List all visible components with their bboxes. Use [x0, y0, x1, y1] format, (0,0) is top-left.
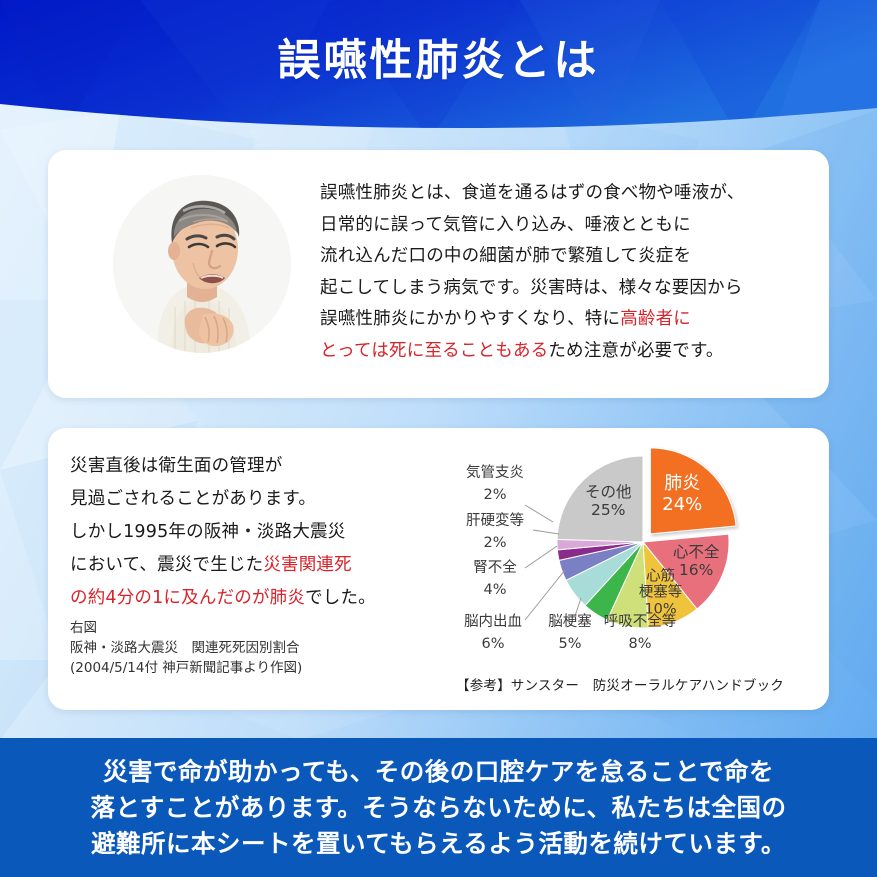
pie-value-肺炎: 24%	[662, 494, 702, 515]
pie-chart: 肺炎24%心不全16%その他25%心筋梗塞等10%気管支炎2%肝硬変等2%腎不全…	[453, 430, 823, 680]
earthquake-line-2: 見過ごされることがあります。	[70, 483, 470, 516]
pie-value-腎不全: 4%	[483, 582, 506, 598]
pie-leader-肝硬変等	[533, 530, 559, 534]
earthquake-text: 災害直後は衛生面の管理が 見過ごされることがあります。 しかし1995年の阪神・…	[70, 450, 470, 615]
header-banner: 誤嚥性肺炎とは	[0, 0, 877, 140]
footer-line-1: 災害で命が助かっても、その後の口腔ケアを怠ることで命を	[0, 754, 877, 790]
infographic-page: 誤嚥性肺炎とは	[0, 0, 877, 877]
footer-message: 災害で命が助かっても、その後の口腔ケアを怠ることで命を 落とすことがあります。そ…	[0, 754, 877, 862]
description-line-4: 起こしてしまう病気です。災害時は、様々な要因から	[320, 273, 820, 305]
pie-label-心筋梗塞等-line2: 梗塞等	[639, 583, 683, 601]
description-card: 誤嚥性肺炎とは、食道を通るはずの食べ物や唾液が、 日常的に誤って気管に入り込み、…	[48, 150, 829, 398]
pie-label-腎不全: 腎不全	[473, 558, 517, 576]
description-line-2: 日常的に誤って気管に入り込み、唾液とともに	[320, 210, 820, 242]
pie-leader-脳内出血	[525, 570, 565, 620]
earthquake-line-5: の約4分の1に及んだのが肺炎でした。	[70, 582, 470, 615]
statistics-card: 災害直後は衛生面の管理が 見過ごされることがあります。 しかし1995年の阪神・…	[48, 428, 829, 710]
pie-label-心筋梗塞等-line1: 心筋	[646, 568, 675, 585]
earthquake-line-4-highlight: 災害関連死	[263, 555, 352, 575]
description-line-5-highlight: 高齢者に	[620, 309, 691, 329]
page-title: 誤嚥性肺炎とは	[0, 26, 877, 88]
chart-caption-line-1: 右図	[70, 618, 490, 638]
pie-label-肺炎: 肺炎	[664, 473, 700, 494]
pie-value-脳梗塞: 5%	[558, 636, 581, 652]
pie-value-脳内出血: 6%	[481, 636, 504, 652]
footer-line-3: 避難所に本シートを置いてもらえるよう活動を続けています。	[0, 826, 877, 862]
pie-value-気管支炎: 2%	[483, 487, 506, 503]
chart-caption-line-3: (2004/5/14付 神戸新聞記事より作図)	[70, 658, 490, 678]
earthquake-line-3: しかし1995年の阪神・淡路大震災	[70, 516, 470, 549]
pie-value-心不全: 16%	[679, 561, 713, 579]
description-line-5: 誤嚥性肺炎にかかりやすくなり、特に高齢者に	[320, 304, 820, 336]
pie-label-肝硬変等: 肝硬変等	[466, 511, 524, 529]
chart-caption-line-2: 阪神・淡路大震災 関連死死因別割合	[70, 638, 490, 658]
description-text: 誤嚥性肺炎とは、食道を通るはずの食べ物や唾液が、 日常的に誤って気管に入り込み、…	[320, 178, 820, 367]
footer-line-2: 落とすことがあります。そうならないために、私たちは全国の	[0, 790, 877, 826]
footer-banner: 災害で命が助かっても、その後の口腔ケアを怠ることで命を 落とすことがあります。そ…	[0, 738, 877, 877]
description-line-1: 誤嚥性肺炎とは、食道を通るはずの食べ物や唾液が、	[320, 178, 820, 210]
earthquake-line-4-plain: において、震災で生じた	[70, 555, 263, 575]
description-line-6: とっては死に至ることもあるため注意が必要です。	[320, 336, 820, 368]
pie-value-その他: 25%	[591, 501, 625, 519]
pie-leader-気管支炎	[525, 505, 553, 522]
description-line-5-plain: 誤嚥性肺炎にかかりやすくなり、特に	[320, 309, 620, 329]
description-line-6-plain: ため注意が必要です。	[548, 341, 723, 361]
earthquake-line-1: 災害直後は衛生面の管理が	[70, 450, 470, 483]
earthquake-line-5-highlight: の約4分の1に及んだのが肺炎	[70, 588, 305, 608]
pie-label-脳内出血: 脳内出血	[464, 613, 522, 630]
pie-label-気管支炎: 気管支炎	[466, 464, 524, 481]
pie-label-その他: その他	[585, 483, 632, 501]
pie-label-脳梗塞: 脳梗塞	[548, 612, 592, 630]
pie-value-肝硬変等: 2%	[483, 535, 506, 551]
patient-photo	[113, 175, 291, 353]
chart-caption: 右図 阪神・淡路大震災 関連死死因別割合 (2004/5/14付 神戸新聞記事よ…	[70, 618, 490, 678]
description-line-6-highlight: とっては死に至ることもある	[320, 341, 548, 361]
earthquake-line-5-plain: でした。	[305, 588, 376, 608]
pie-leader-腎不全	[525, 546, 557, 568]
earthquake-line-4: において、震災で生じた災害関連死	[70, 549, 470, 582]
pie-value-呼吸不全等: 8%	[628, 636, 651, 652]
pie-label-心不全: 心不全	[673, 543, 720, 561]
pie-label-呼吸不全等: 呼吸不全等	[604, 612, 677, 630]
description-line-3: 流れ込んだ口の中の細菌が肺で繁殖して炎症を	[320, 241, 820, 273]
